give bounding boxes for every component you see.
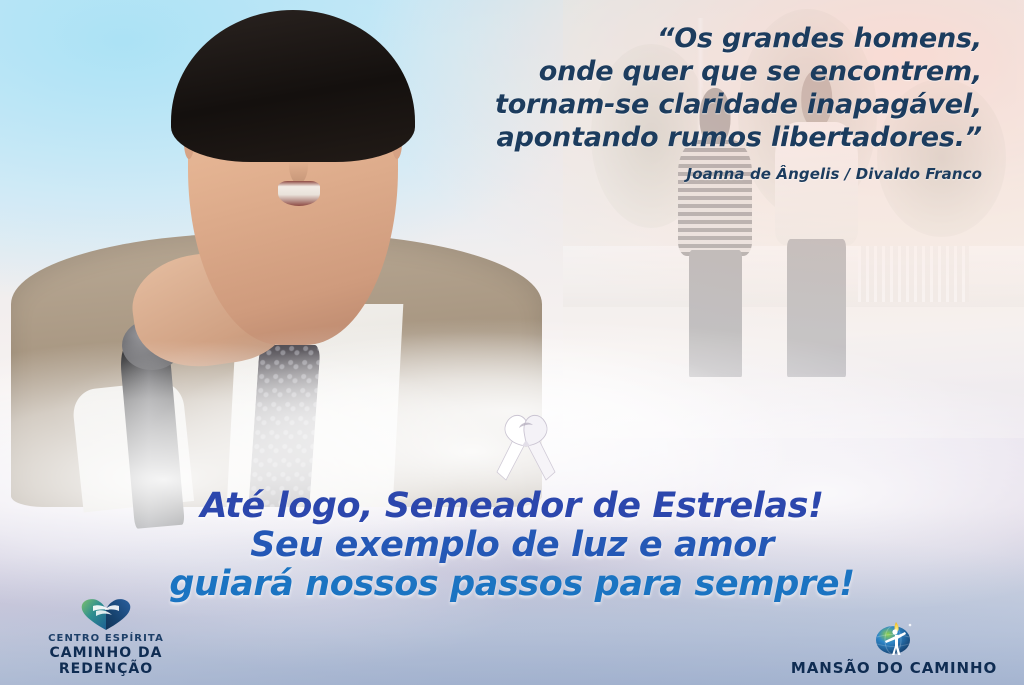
headline-block: Até logo, Semeador de Estrelas! Seu exem… xyxy=(0,487,1024,604)
quote-line-4: apontando rumos libertadores.” xyxy=(422,121,982,154)
quote-block: “Os grandes homens, onde quer que se enc… xyxy=(422,22,982,183)
footer-logo-mansao-do-caminho[interactable]: MANSÃO DO CAMINHO xyxy=(774,618,1014,677)
footer-right-line1: MANSÃO DO CAMINHO xyxy=(774,660,1014,677)
quote-attribution: Joanna de Ângelis / Divaldo Franco xyxy=(422,165,982,183)
globe-figure-icon xyxy=(872,618,916,658)
quote-line-3: tornam-se claridade inapagável, xyxy=(422,88,982,121)
headline-line-2: Seu exemplo de luz e amor xyxy=(0,526,1024,565)
memorial-poster: “Os grandes homens, onde quer que se enc… xyxy=(0,0,1024,685)
headline-line-1: Até logo, Semeador de Estrelas! xyxy=(0,487,1024,526)
mourning-ribbon xyxy=(493,410,559,484)
footer-logo-centro-espirita[interactable]: CENTRO ESPÍRITA CAMINHO DA REDENÇÃO xyxy=(8,597,204,677)
quote-line-1: “Os grandes homens, xyxy=(422,22,982,55)
footer-left-line2: CAMINHO DA REDENÇÃO xyxy=(8,645,204,677)
poster-content: “Os grandes homens, onde quer que se enc… xyxy=(0,0,1024,685)
white-ribbon-icon xyxy=(493,410,559,484)
quote-line-2: onde quer que se encontrem, xyxy=(422,55,982,88)
footer-left-line1: CENTRO ESPÍRITA xyxy=(8,633,204,645)
heart-hands-icon xyxy=(78,597,134,631)
